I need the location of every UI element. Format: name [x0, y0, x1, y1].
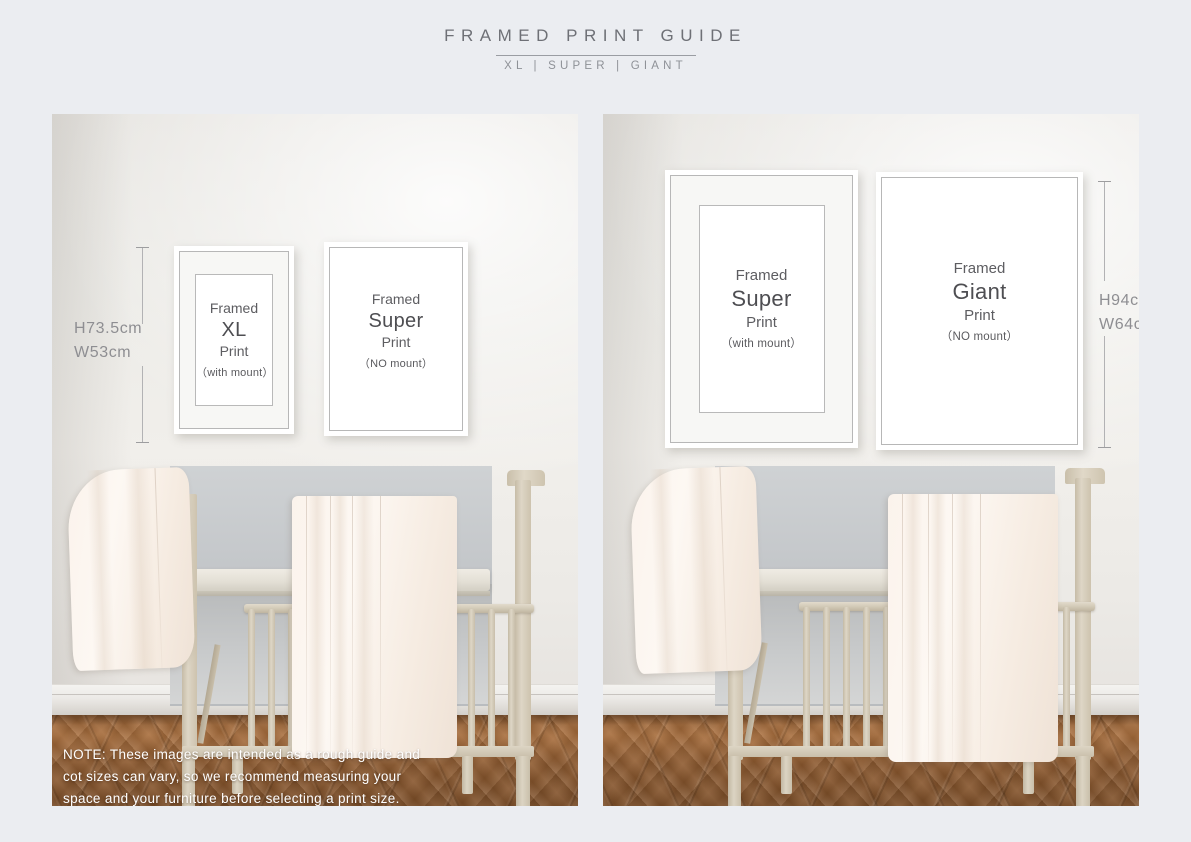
- page-header: FRAMED PRINT GUIDE XL | SUPER | GIANT: [0, 0, 1191, 114]
- room-scene-right: Framed Super Print （with mount） Framed G…: [603, 114, 1139, 806]
- note-line-1: NOTE: These images are intended as a rou…: [63, 744, 533, 766]
- page-title: FRAMED PRINT GUIDE: [0, 26, 1191, 46]
- note-text: NOTE: These images are intended as a rou…: [63, 744, 533, 806]
- blanket-draped-left-right: [629, 466, 762, 674]
- note-line-3: space and your furniture before selectin…: [63, 788, 533, 806]
- cot-leg-1-right: [728, 756, 741, 806]
- blanket-draped-left: [67, 467, 196, 671]
- page-subtitle: XL | SUPER | GIANT: [0, 60, 1191, 72]
- room-scene-left: H73.5cm W53cm Framed XL Print （with moun…: [52, 114, 578, 806]
- cot-leg-2-right: [781, 756, 792, 794]
- note-line-2: cot sizes can vary, so we recommend meas…: [63, 766, 533, 788]
- cot-leg-4-right: [1076, 756, 1090, 806]
- cot-right: [603, 114, 1139, 806]
- title-divider: [496, 55, 696, 56]
- blanket-draped-right-left: [292, 496, 457, 758]
- blanket-draped-right-right: [888, 494, 1058, 762]
